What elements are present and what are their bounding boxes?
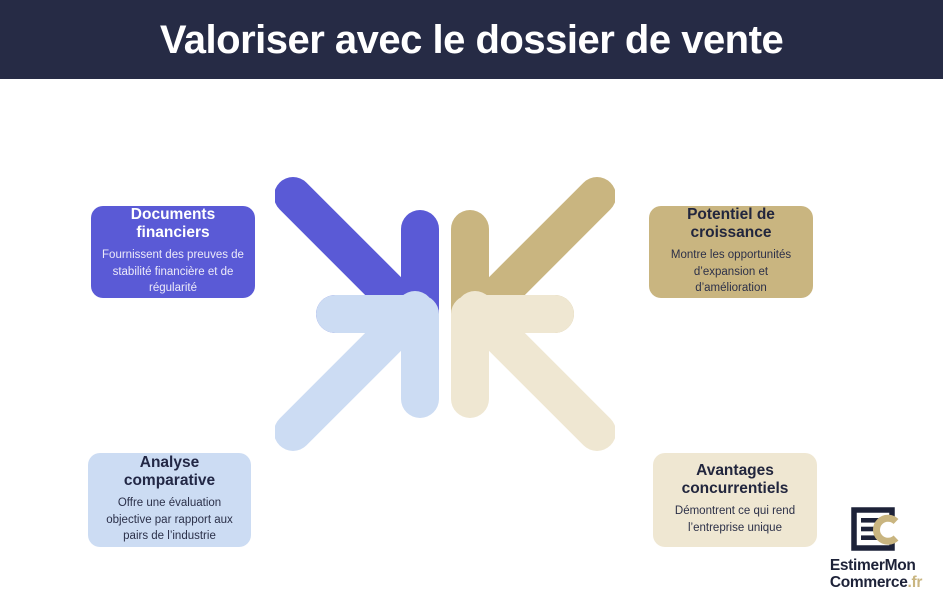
card-body: Montre les opportunités d’expansion et d… — [660, 247, 802, 296]
card-body: Fournissent des preuves de stabilité fin… — [102, 247, 244, 296]
logo-wordmark-line1: EstimerMon — [830, 557, 922, 574]
page-title: Valoriser avec le dossier de vente — [160, 20, 783, 60]
card-title: Potentiel de croissance — [660, 206, 802, 243]
card-documents-financiers[interactable]: Documents financiers Fournissent des pre… — [91, 206, 255, 298]
card-title: Documents financiers — [102, 206, 244, 243]
logo-wordmark-commerce: Commerce — [830, 574, 908, 591]
estimermoncommerce-monogram-icon — [850, 507, 902, 551]
card-potentiel-de-croissance[interactable]: Potentiel de croissance Montre les oppor… — [649, 206, 813, 298]
card-body: Démontrent ce qui rend l’entreprise uniq… — [664, 503, 806, 536]
card-avantages-concurrentiels[interactable]: Avantages concurrentiels Démontrent ce q… — [653, 453, 817, 547]
logo-wordmark-tld: .fr — [908, 574, 923, 591]
logo-wordmark: EstimerMon Commerce.fr — [830, 557, 922, 591]
card-title: Avantages concurrentiels — [664, 462, 806, 499]
arrow-bottom-left-icon — [293, 310, 420, 432]
slide-body: Documents financiers Fournissent des pre… — [0, 79, 943, 530]
brand-logo[interactable]: EstimerMon Commerce.fr — [812, 507, 940, 603]
card-analyse-comparative[interactable]: Analyse comparative Offre une évaluation… — [88, 453, 251, 547]
header-band: Valoriser avec le dossier de vente — [0, 0, 943, 79]
logo-wordmark-line2: Commerce.fr — [830, 574, 922, 591]
card-body: Offre une évaluation objective par rappo… — [99, 495, 240, 544]
converging-arrows-graphic — [275, 164, 615, 464]
card-title: Analyse comparative — [99, 454, 240, 491]
arrow-bottom-right-icon — [470, 310, 597, 432]
